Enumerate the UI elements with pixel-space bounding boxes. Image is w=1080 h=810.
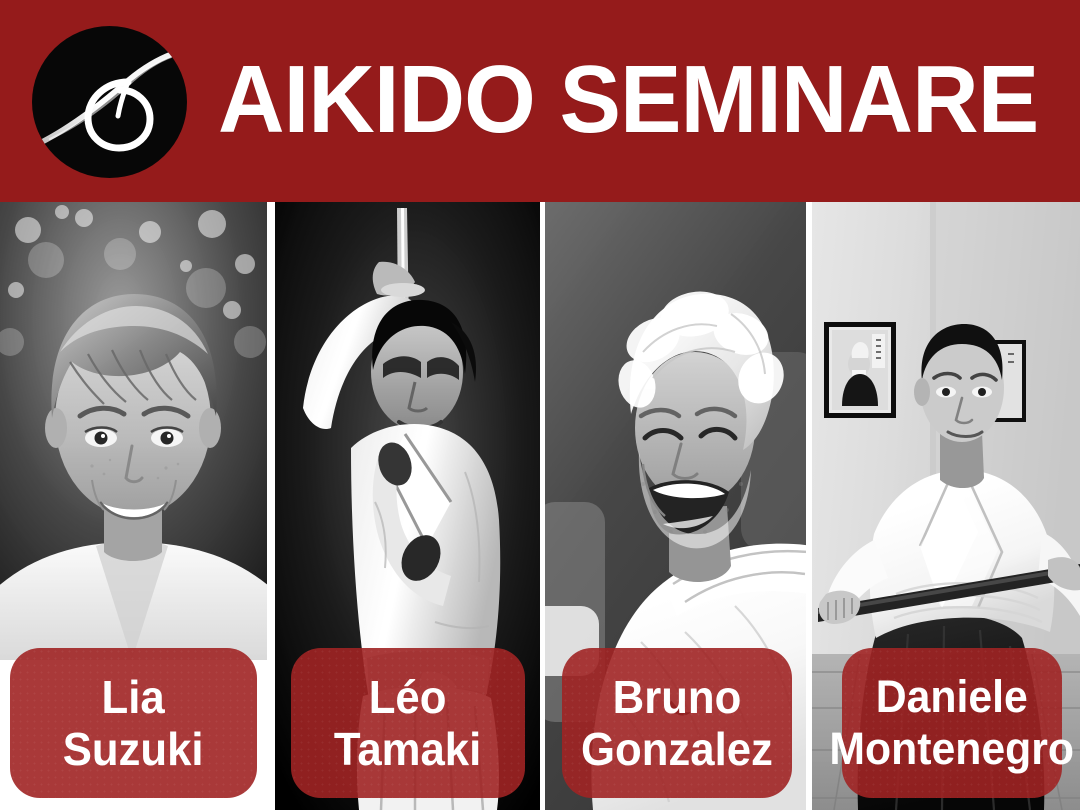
instructor-first-name: Lia	[63, 671, 204, 723]
name-badge: Lia Suzuki	[10, 648, 257, 798]
instructor-last-name: Tamaki	[334, 723, 481, 775]
name-badge: Daniele Montenegro	[842, 648, 1062, 798]
photo-lia-suzuki	[0, 202, 267, 660]
enso-brush-loop-logo-icon	[32, 26, 187, 178]
instructor-name: Lia Suzuki	[63, 671, 204, 775]
instructor-last-name: Montenegro	[830, 723, 1075, 775]
instructor-last-name: Suzuki	[63, 723, 204, 775]
instructor-card[interactable]: Lia Suzuki	[0, 202, 267, 810]
instructor-card[interactable]: Daniele Montenegro	[812, 202, 1080, 810]
instructor-name: Daniele Montenegro	[830, 671, 1075, 775]
page-title: AIKIDO SEMINARE	[218, 52, 1038, 148]
instructor-first-name: Daniele	[830, 671, 1075, 723]
instructor-card[interactable]: Léo Tamaki	[275, 202, 540, 810]
poster-header: AIKIDO SEMINARE	[0, 0, 1080, 202]
name-badge: Léo Tamaki	[291, 648, 525, 798]
aikido-seminar-poster: AIKIDO SEMINARE	[0, 0, 1080, 810]
instructor-last-name: Gonzalez	[581, 723, 773, 775]
instructor-name: Bruno Gonzalez	[581, 671, 773, 775]
instructor-strip: Lia Suzuki	[0, 202, 1080, 810]
instructor-first-name: Bruno	[581, 671, 773, 723]
name-badge: Bruno Gonzalez	[562, 648, 792, 798]
instructor-card[interactable]: Bruno Gonzalez	[545, 202, 806, 810]
instructor-first-name: Léo	[334, 671, 481, 723]
brand-logo	[32, 26, 187, 178]
instructor-name: Léo Tamaki	[334, 671, 481, 775]
